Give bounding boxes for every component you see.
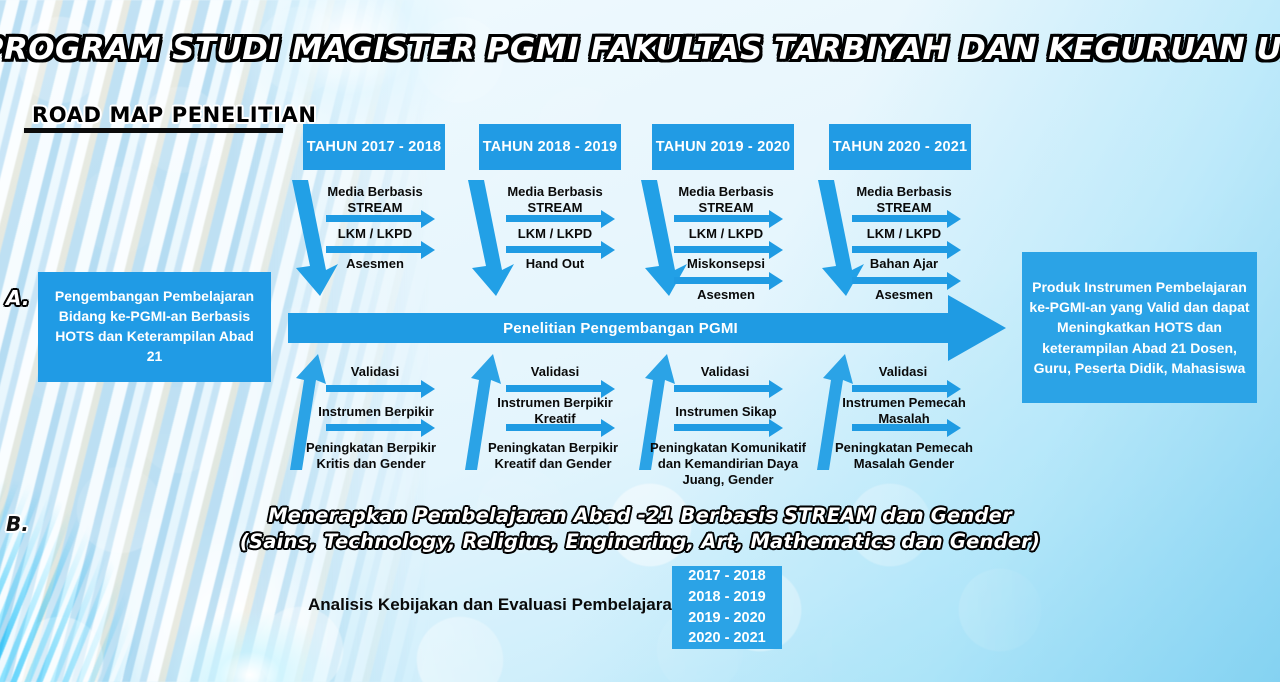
col4-bottom-arrow-1-icon <box>852 385 948 392</box>
col1-bottom-item-2: Instrumen Berpikir <box>306 404 446 420</box>
col2-top-item-3: Hand Out <box>500 256 610 272</box>
col3-top-arrow-2-icon <box>674 246 770 253</box>
col1-bottom-item-3: Peningkatan Berpikir Kritis dan Gender <box>300 440 442 472</box>
col4-top-arrow-1-icon <box>852 215 948 222</box>
col2-top-arrow-2-icon <box>506 246 602 253</box>
years-list-box[interactable]: 2017 - 2018 2018 - 2019 2019 - 2020 2020… <box>672 566 782 649</box>
col1-top-item-3: Asesmen <box>320 256 430 272</box>
col2-top-arrow-1-icon <box>506 215 602 222</box>
poster-title: PROGRAM STUDI MAGISTER PGMI FAKULTAS TAR… <box>0 32 1280 67</box>
col2-bottom-arrow-1-icon <box>506 385 602 392</box>
col3-bottom-arrow-2-icon <box>674 424 770 431</box>
col4-top-item-3: Bahan Ajar <box>848 256 960 272</box>
roadmap-underline <box>24 128 283 133</box>
col4-top-arrow-3-icon <box>852 277 948 284</box>
col4-bottom-arrow-2-icon <box>852 424 948 431</box>
col3-bottom-arrow-1-icon <box>674 385 770 392</box>
col4-top-item-2: LKM / LKPD <box>848 226 960 242</box>
col1-bottom-item-1: Validasi <box>320 364 430 380</box>
col3-top-item-1: Media Berbasis STREAM <box>670 184 782 216</box>
years-list-item-4: 2020 - 2021 <box>688 628 765 649</box>
col1-top-item-2: LKM / LKPD <box>320 226 430 242</box>
analysis-label: Analisis Kebijakan dan Evaluasi Pembelaj… <box>308 595 682 615</box>
col4-bottom-item-3: Peningkatan Pemecah Masalah Gender <box>830 440 978 472</box>
col2-top-item-1: Media Berbasis STREAM <box>500 184 610 216</box>
col1-top-item-1: Media Berbasis STREAM <box>320 184 430 216</box>
col2-top-item-2: LKM / LKPD <box>500 226 610 242</box>
col1-top-arrow-2-icon <box>326 246 422 253</box>
section-a-letter: A. <box>6 286 29 310</box>
roadmap-label: ROAD MAP PENELITIAN <box>32 103 317 127</box>
years-list-item-3: 2019 - 2020 <box>688 608 765 629</box>
headline-line-2: (Sains, Technology, Religius, Enginering… <box>0 529 1280 555</box>
col1-top-arrow-1-icon <box>326 215 422 222</box>
col4-bottom-item-1: Validasi <box>848 364 958 380</box>
col3-top-item-4: Asesmen <box>670 287 782 303</box>
central-band-arrowhead-icon <box>948 295 1006 361</box>
years-list-item-2: 2018 - 2019 <box>688 587 765 608</box>
right-outcome-box[interactable]: Produk Instrumen Pembelajaran ke-PGMI-an… <box>1022 252 1257 403</box>
col3-top-arrow-1-icon <box>674 215 770 222</box>
roadmap-poster: PROGRAM STUDI MAGISTER PGMI FAKULTAS TAR… <box>0 0 1280 682</box>
col3-bottom-item-2: Instrumen Sikap <box>666 404 786 420</box>
col3-top-arrow-3-icon <box>674 277 770 284</box>
years-list-item-1: 2017 - 2018 <box>688 566 765 587</box>
col3-bottom-item-3: Peningkatan Komunikatif dan Kemandirian … <box>648 440 808 488</box>
col3-bottom-item-1: Validasi <box>670 364 780 380</box>
col1-bottom-arrow-1-icon <box>326 385 422 392</box>
col1-bottom-arrow-2-icon <box>326 424 422 431</box>
col2-bottom-arrow-2-icon <box>506 424 602 431</box>
section-b-headline: Menerapkan Pembelajaran Abad -21 Berbasi… <box>0 503 1280 554</box>
col3-top-item-3: Miskonsepsi <box>670 256 782 272</box>
central-band-label: Penelitian Pengembangan PGMI <box>288 313 953 343</box>
year-box-2019-2020[interactable]: TAHUN 2019 - 2020 <box>652 124 794 170</box>
col4-top-item-4: Asesmen <box>848 287 960 303</box>
col4-top-item-1: Media Berbasis STREAM <box>848 184 960 216</box>
year-box-2018-2019[interactable]: TAHUN 2018 - 2019 <box>479 124 621 170</box>
headline-line-1: Menerapkan Pembelajaran Abad -21 Berbasi… <box>0 503 1280 529</box>
year-box-2017-2018[interactable]: TAHUN 2017 - 2018 <box>303 124 445 170</box>
left-input-box[interactable]: Pengembangan Pembelajaran Bidang ke-PGMI… <box>38 272 271 382</box>
col2-bottom-item-1: Validasi <box>500 364 610 380</box>
year-box-2020-2021[interactable]: TAHUN 2020 - 2021 <box>829 124 971 170</box>
col3-top-item-2: LKM / LKPD <box>670 226 782 242</box>
col2-bottom-item-3: Peningkatan Berpikir Kreatif dan Gender <box>480 440 626 472</box>
col4-top-arrow-2-icon <box>852 246 948 253</box>
